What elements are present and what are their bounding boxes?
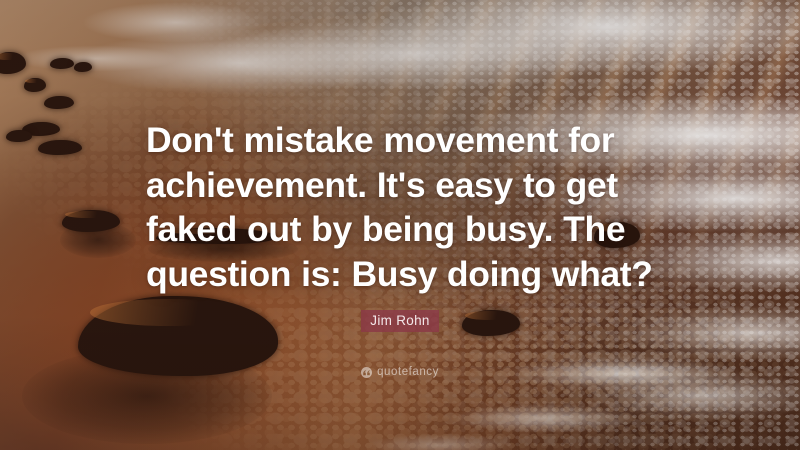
quote-wallpaper: Don't mistake movement for achievement. … xyxy=(0,0,800,450)
author-name: Jim Rohn xyxy=(361,310,438,332)
quote-mark-icon xyxy=(361,367,372,378)
watermark-brand: quotefancy xyxy=(377,366,439,378)
author-attribution: Jim Rohn xyxy=(0,310,800,332)
quote-text: Don't mistake movement for achievement. … xyxy=(146,118,662,296)
quote-content: Don't mistake movement for achievement. … xyxy=(0,0,800,450)
watermark[interactable]: quotefancy xyxy=(0,366,800,378)
